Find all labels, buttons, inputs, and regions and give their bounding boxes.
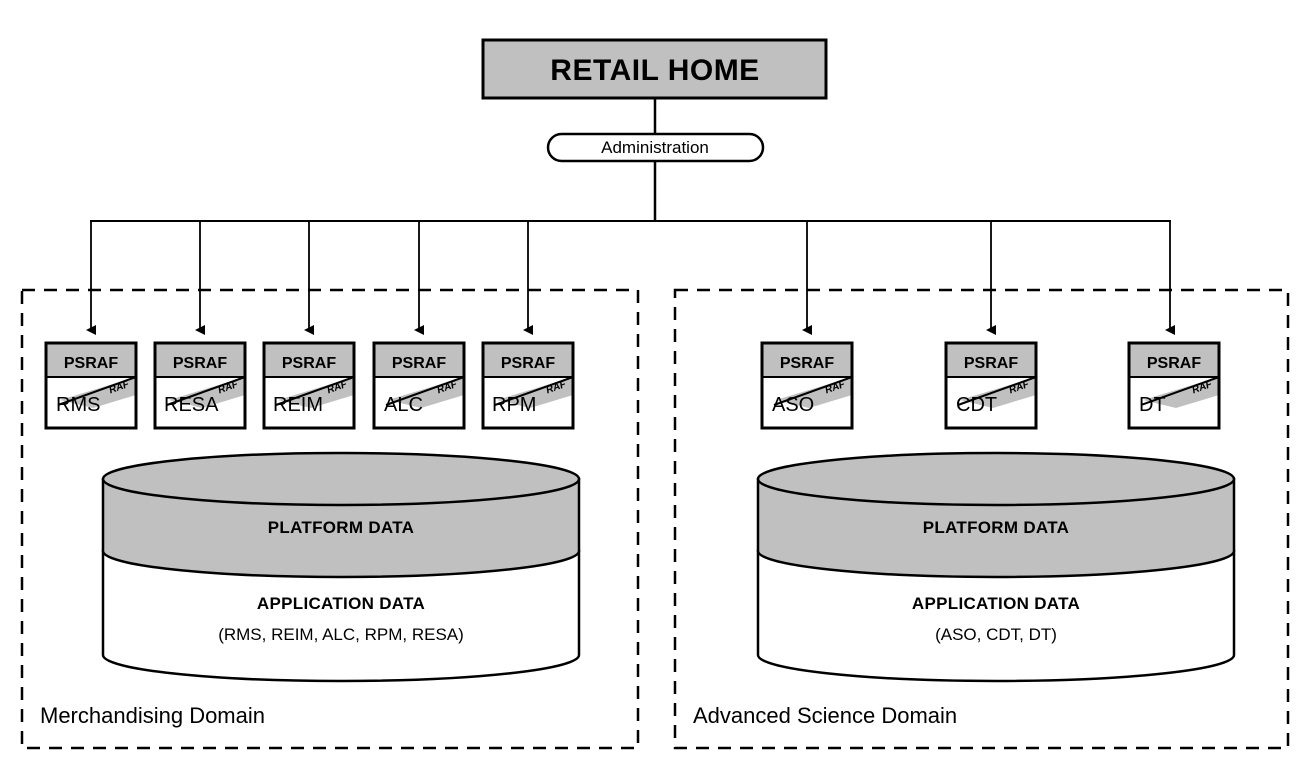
app-node-rpm-name: RPM — [492, 394, 536, 416]
app-node-rpm[interactable]: PSRAF RPM RAF — [483, 343, 573, 428]
advanced-science-domain-label: Advanced Science Domain — [693, 703, 957, 728]
retail-home-architecture-diagram: RETAIL HOME Administration Merchandising… — [0, 0, 1316, 781]
app-node-resa-name: RESA — [164, 394, 219, 416]
administration-label: Administration — [601, 138, 709, 157]
app-node-resa-badge: PSRAF — [173, 355, 227, 372]
datastore-advanced-science-platform-label: PLATFORM DATA — [923, 518, 1069, 537]
app-node-dt-badge: PSRAF — [1147, 355, 1201, 372]
app-node-dt-name: DT — [1139, 394, 1166, 416]
retail-home-node[interactable]: RETAIL HOME — [483, 40, 826, 98]
datastore-advanced-science-top-cap — [758, 453, 1234, 505]
app-node-reim-badge: PSRAF — [282, 355, 336, 372]
datastore-merchandising-application-list: (RMS, REIM, ALC, RPM, RESA) — [218, 625, 464, 644]
app-node-cdt-badge: PSRAF — [964, 355, 1018, 372]
app-node-reim[interactable]: PSRAF REIM RAF — [264, 343, 354, 428]
datastore-advanced-science-application-list: (ASO, CDT, DT) — [935, 625, 1057, 644]
merchandising-domain-label: Merchandising Domain — [40, 703, 265, 728]
app-node-alc-name: ALC — [384, 394, 423, 416]
datastore-merchandising[interactable]: PLATFORM DATA APPLICATION DATA (RMS, REI… — [103, 453, 579, 681]
app-node-rpm-badge: PSRAF — [501, 355, 555, 372]
datastore-merchandising-application-label: APPLICATION DATA — [257, 594, 425, 613]
datastore-advanced-science-application-label: APPLICATION DATA — [912, 594, 1080, 613]
app-node-cdt[interactable]: PSRAF CDT RAF — [946, 343, 1036, 428]
app-node-aso[interactable]: PSRAF ASO RAF — [762, 343, 852, 428]
app-node-dt[interactable]: PSRAF DT RAF — [1129, 343, 1219, 428]
app-node-aso-badge: PSRAF — [780, 355, 834, 372]
datastore-merchandising-top-cap — [103, 453, 579, 505]
app-node-rms[interactable]: PSRAF RMS RAF — [46, 343, 136, 428]
app-node-aso-name: ASO — [772, 394, 814, 416]
app-node-alc[interactable]: PSRAF ALC RAF — [374, 343, 464, 428]
administration-node[interactable]: Administration — [548, 134, 763, 161]
app-node-rms-badge: PSRAF — [64, 355, 118, 372]
app-node-resa[interactable]: PSRAF RESA RAF — [155, 343, 245, 428]
app-node-cdt-name: CDT — [956, 394, 997, 416]
app-node-alc-badge: PSRAF — [392, 355, 446, 372]
app-node-reim-name: REIM — [273, 394, 323, 416]
datastore-advanced-science[interactable]: PLATFORM DATA APPLICATION DATA (ASO, CDT… — [758, 453, 1234, 681]
datastore-merchandising-platform-label: PLATFORM DATA — [268, 518, 414, 537]
app-node-rms-name: RMS — [56, 394, 100, 416]
retail-home-label: RETAIL HOME — [550, 54, 759, 87]
